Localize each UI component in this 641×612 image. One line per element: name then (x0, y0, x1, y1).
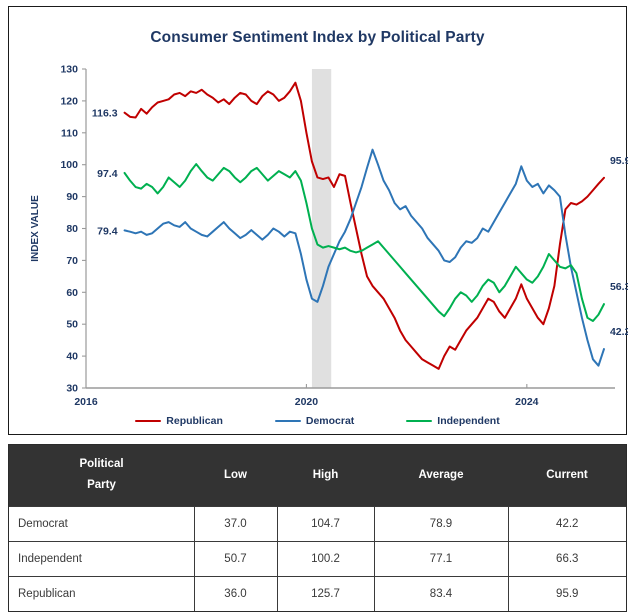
column-header-high[interactable]: High (277, 445, 374, 506)
y-tick-label: 70 (66, 255, 78, 267)
recession-band (312, 69, 331, 388)
y-axis-label: INDEX VALUE (30, 195, 41, 262)
cell-high: 125.7 (277, 576, 374, 611)
column-header-low[interactable]: Low (194, 445, 277, 506)
legend-swatch-democrat (275, 420, 301, 423)
legend-label-republican: Republican (166, 415, 223, 427)
y-tick-label: 130 (60, 64, 78, 76)
start-label-republican: 116.3 (92, 108, 118, 120)
y-tick-label: 40 (66, 351, 78, 363)
end-label-independent: 56.3 (610, 281, 628, 293)
chart-panel: Consumer Sentiment Index by Political Pa… (8, 6, 627, 435)
summary-table-wrapper: Political Party Low High Average Current… (8, 444, 627, 612)
legend-label-independent: Independent (437, 415, 499, 427)
cell-party: Independent (9, 541, 194, 576)
cell-low: 37.0 (194, 506, 277, 541)
y-tick-label: 110 (61, 127, 78, 139)
cell-low: 50.7 (194, 541, 277, 576)
y-tick-label: 120 (60, 95, 78, 107)
legend-item-democrat[interactable]: Democrat (275, 415, 354, 427)
table-row: Independent50.7100.277.166.3 (9, 541, 626, 576)
table-body: Democrat37.0104.778.942.2Independent50.7… (9, 506, 626, 611)
column-header-party-line1: Political (13, 454, 190, 475)
legend-label-democrat: Democrat (306, 415, 354, 427)
column-header-current[interactable]: Current (508, 445, 626, 506)
y-tick-label: 80 (66, 223, 78, 235)
cell-current: 95.9 (508, 576, 626, 611)
column-header-party-line2: Party (13, 475, 190, 496)
cell-average: 77.1 (374, 541, 508, 576)
legend-item-republican[interactable]: Republican (135, 415, 223, 427)
column-header-average[interactable]: Average (374, 445, 508, 506)
series-line-republican (125, 83, 604, 369)
table-header-row: Political Party Low High Average Current (9, 445, 626, 506)
cell-current: 42.2 (508, 506, 626, 541)
cell-high: 100.2 (277, 541, 374, 576)
x-tick-label: 2024 (515, 396, 539, 408)
legend-item-independent[interactable]: Independent (406, 415, 499, 427)
end-label-republican: 95.9 (610, 155, 628, 167)
cell-party: Democrat (9, 506, 194, 541)
y-tick-label: 60 (66, 287, 78, 299)
y-tick-label: 50 (66, 319, 78, 331)
cell-party: Republican (9, 576, 194, 611)
x-tick-label: 2016 (74, 396, 98, 408)
end-label-democrat: 42.2 (610, 326, 628, 338)
start-label-democrat: 79.4 (97, 225, 118, 237)
table-row: Democrat37.0104.778.942.2 (9, 506, 626, 541)
cell-low: 36.0 (194, 576, 277, 611)
cell-average: 78.9 (374, 506, 508, 541)
legend-swatch-independent (406, 420, 432, 423)
start-label-independent: 97.4 (97, 168, 118, 180)
summary-table: Political Party Low High Average Current… (9, 445, 626, 611)
series-line-democrat (125, 150, 604, 366)
cell-average: 83.4 (374, 576, 508, 611)
consumer-sentiment-report: Consumer Sentiment Index by Political Pa… (0, 0, 641, 602)
line-chart: 30405060708090100110120130INDEX VALUE201… (9, 7, 628, 436)
y-tick-label: 100 (60, 159, 78, 171)
y-tick-label: 90 (66, 191, 78, 203)
cell-current: 66.3 (508, 541, 626, 576)
x-tick-label: 2020 (295, 396, 319, 408)
legend-swatch-republican (135, 420, 161, 423)
cell-high: 104.7 (277, 506, 374, 541)
column-header-political-party[interactable]: Political Party (9, 445, 194, 506)
table-row: Republican36.0125.783.495.9 (9, 576, 626, 611)
y-tick-label: 30 (66, 383, 78, 395)
chart-legend: Republican Democrat Independent (9, 415, 626, 427)
